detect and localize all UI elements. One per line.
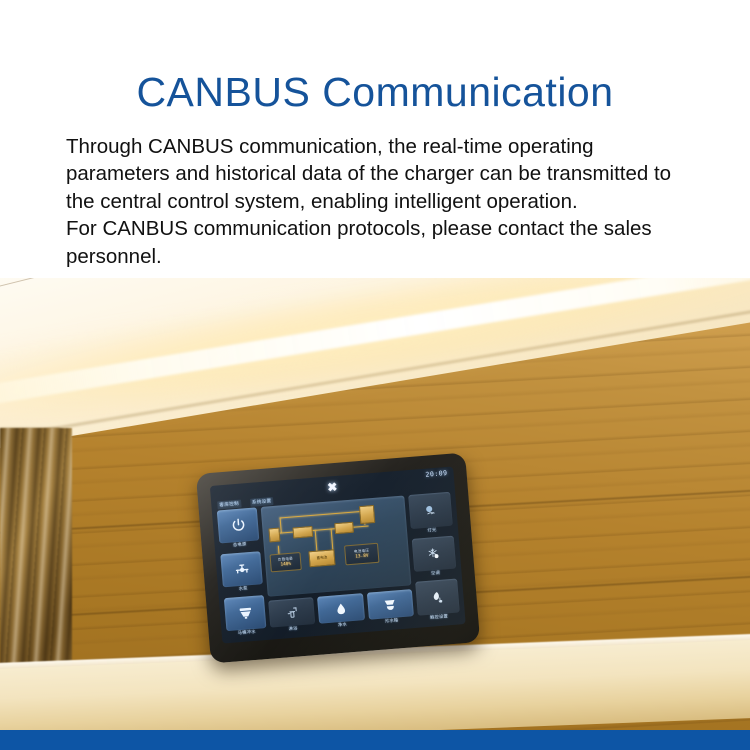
middle-bottom-row: 淋浴 净水 bbox=[268, 589, 414, 634]
toilet-button-wrap: 马桶冲水 bbox=[224, 595, 267, 638]
shower-button[interactable]: 淋浴 bbox=[268, 597, 315, 628]
clock-display: 20:09 bbox=[425, 469, 448, 479]
grey-water-tank-label: 污水箱 bbox=[369, 616, 415, 626]
clean-water-button-wrap: 净水 bbox=[317, 593, 365, 631]
clean-water-tank-button[interactable]: 净水 bbox=[317, 593, 364, 624]
touch-control-button[interactable]: 触控设置 bbox=[415, 579, 460, 616]
clean-water-tank-icon bbox=[333, 601, 348, 616]
battery-voltage-readout: 电池电压 13.8V bbox=[344, 543, 379, 566]
diagram-wire bbox=[331, 528, 334, 550]
footer-accent-bar bbox=[0, 730, 750, 750]
shower-button-label: 淋浴 bbox=[270, 624, 316, 634]
water-pump-button[interactable]: 水泵 bbox=[220, 551, 263, 587]
load-readout: 负载电量 140% bbox=[269, 552, 301, 572]
toilet-icon bbox=[236, 604, 254, 622]
converter-node bbox=[334, 522, 354, 534]
control-panel-screen[interactable]: ✖ 20:09 客房控制 系统设置 bbox=[210, 466, 466, 643]
toilet-flush-button-label: 马桶冲水 bbox=[227, 628, 267, 637]
shower-button-wrap: 淋浴 bbox=[268, 597, 316, 635]
charger-node bbox=[292, 526, 313, 539]
diagram-wire bbox=[280, 511, 366, 519]
grey-water-button-wrap: 污水箱 bbox=[367, 589, 415, 627]
air-conditioner-icon bbox=[426, 546, 441, 561]
aircon-button-wrap: 空调 bbox=[412, 535, 457, 579]
ceiling-light-icon bbox=[423, 503, 438, 518]
air-conditioner-button[interactable]: 空调 bbox=[412, 535, 457, 572]
touch-control-label: 触控设置 bbox=[418, 612, 460, 621]
middle-column: 负载电量 140% 蓄电池 电池电压 13.8V bbox=[261, 495, 415, 634]
left-button-column: 总电源 bbox=[217, 507, 267, 638]
battery-label: 蓄电池 bbox=[316, 555, 327, 561]
touch-settings-button-wrap: 触控设置 bbox=[415, 579, 460, 623]
grey-water-tank-icon bbox=[383, 597, 398, 612]
diagram-wire bbox=[280, 517, 283, 533]
water-pump-icon bbox=[232, 560, 250, 578]
water-pump-button-wrap: 水泵 bbox=[220, 551, 263, 594]
ceiling-light-label: 灯光 bbox=[411, 525, 453, 534]
screen-content: 总电源 bbox=[217, 492, 461, 638]
light-button-wrap: 灯光 bbox=[408, 492, 453, 536]
shore-power-inlet-node bbox=[268, 528, 280, 543]
diagram-wire bbox=[277, 525, 369, 534]
diagram-wire bbox=[315, 530, 318, 552]
power-icon bbox=[229, 516, 247, 534]
inverter-node bbox=[359, 505, 375, 524]
water-pump-button-label: 水泵 bbox=[223, 584, 263, 593]
wall-mounted-control-panel[interactable]: ✖ 20:09 客房控制 系统设置 bbox=[196, 452, 480, 663]
battery-voltage-value: 13.8V bbox=[355, 554, 369, 560]
power-button-wrap: 总电源 bbox=[217, 507, 260, 550]
shower-icon bbox=[284, 605, 299, 620]
ceiling-light-button[interactable]: 灯光 bbox=[408, 492, 453, 529]
power-flow-diagram[interactable]: 负载电量 140% 蓄电池 电池电压 13.8V bbox=[261, 495, 412, 596]
product-photo: ✖ 20:09 客房控制 系统设置 bbox=[0, 278, 750, 730]
power-button-label: 总电源 bbox=[219, 540, 259, 549]
page-title: CANBUS Communication bbox=[0, 71, 750, 114]
load-readout-value: 140% bbox=[280, 562, 291, 568]
close-icon[interactable]: ✖ bbox=[327, 481, 338, 494]
toilet-flush-button[interactable]: 马桶冲水 bbox=[224, 595, 267, 631]
grey-water-tank-button[interactable]: 污水箱 bbox=[367, 589, 414, 620]
clean-water-tank-label: 净水 bbox=[320, 620, 366, 630]
page-body-text: Through CANBUS communication, the real-t… bbox=[66, 133, 696, 271]
power-button[interactable]: 总电源 bbox=[217, 507, 260, 543]
slide-page: CANBUS Communication Through CANBUS comm… bbox=[0, 0, 750, 750]
air-conditioner-label: 空调 bbox=[414, 569, 456, 578]
right-button-column: 灯光 bbox=[408, 492, 460, 623]
touch-control-icon bbox=[430, 590, 445, 605]
battery-node: 蓄电池 bbox=[308, 549, 335, 567]
